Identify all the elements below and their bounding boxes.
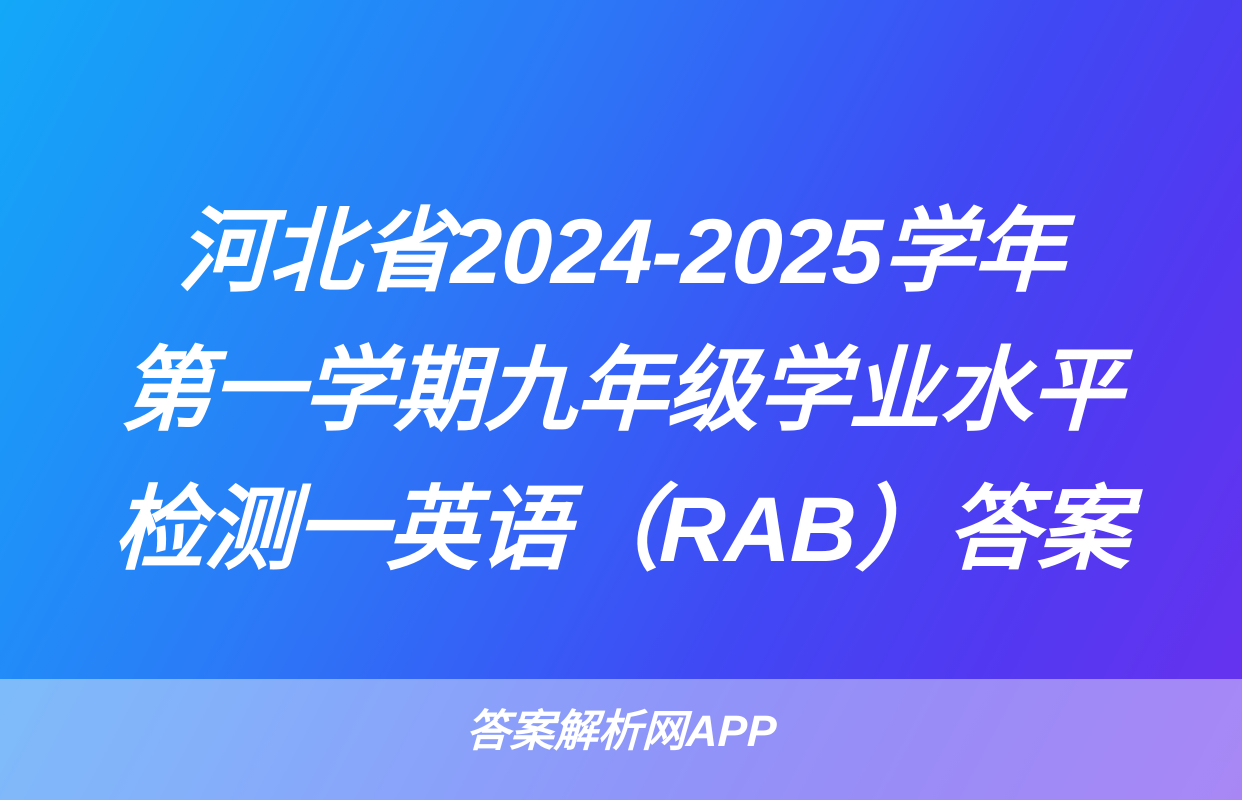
poster-container: 河北省2024-2025学年 第一学期九年级学业水平 检测一英语（RAB）答案 … (0, 0, 1242, 800)
watermark: 答案解析网APP (0, 706, 1242, 758)
watermark-brand-label: 答案解析网APP (465, 706, 777, 758)
title-line-2: 第一学期九年级学业水平 (0, 322, 1242, 461)
title-line-3: 检测一英语（RAB）答案 (0, 461, 1242, 600)
title-line-1: 河北省2024-2025学年 (0, 183, 1242, 322)
page-title: 河北省2024-2025学年 第一学期九年级学业水平 检测一英语（RAB）答案 (0, 183, 1242, 600)
